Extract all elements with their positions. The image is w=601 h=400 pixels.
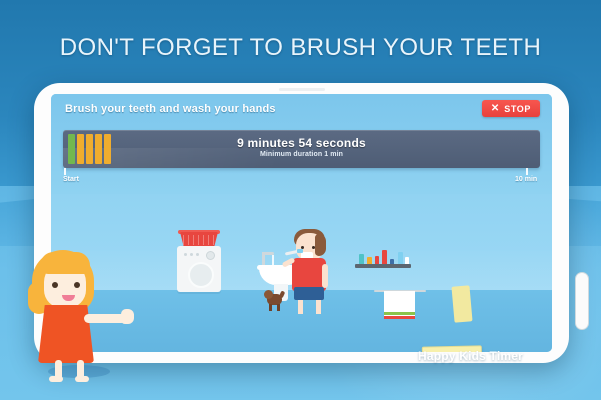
stop-button-label: STOP (504, 104, 531, 114)
boy-arm (322, 264, 328, 288)
basket-texture (183, 235, 215, 245)
girl-mascot (22, 248, 142, 388)
girl-foot (49, 376, 63, 382)
laundry-basket (180, 232, 218, 247)
timer-progress-bar[interactable]: 9 minutes 54 seconds Minimum duration 1 … (63, 130, 540, 168)
toiletry-bottle (382, 250, 387, 265)
page-title: DON'T FORGET TO BRUSH YOUR TEETH (0, 34, 601, 62)
panel-dot (190, 253, 193, 256)
timer-minimum-text: Minimum duration 1 min (63, 151, 540, 158)
dog-leg (277, 304, 280, 311)
washing-machine-knob (206, 251, 215, 260)
girl-bangs (40, 252, 90, 274)
panel-dot (196, 253, 199, 256)
timer-scale-end-label: 10 min (515, 176, 537, 183)
washing-machine-door (188, 262, 214, 288)
boy-leg (298, 300, 303, 314)
towel-stripe-red (384, 316, 415, 319)
girl-foot (75, 376, 89, 382)
girl-eye (52, 282, 58, 288)
boy-shorts (294, 287, 324, 300)
app-watermark: Happy Kids Timer (418, 349, 523, 363)
washing-machine-panel (182, 251, 216, 258)
wall-poster (451, 285, 472, 322)
dog-head (264, 290, 273, 299)
boy-eye (312, 246, 315, 249)
girl-hand (121, 309, 134, 324)
towel-stripe-green (384, 312, 415, 315)
close-icon: ✕ (491, 104, 499, 114)
timer-widget[interactable]: 9 minutes 54 seconds Minimum duration 1 … (63, 130, 540, 168)
app-header: Brush your teeth and wash your hands ✕ S… (51, 94, 552, 128)
task-title: Brush your teeth and wash your hands (65, 103, 276, 115)
screenshot-root: DON'T FORGET TO BRUSH YOUR TEETH Brush y… (0, 0, 601, 400)
dog-leg (269, 304, 272, 311)
phone-speaker (279, 88, 325, 91)
timer-remaining-text: 9 minutes 54 seconds (63, 136, 540, 150)
panel-dot (184, 253, 187, 256)
boy-hair-back (315, 234, 326, 256)
girl-arm-pointing (84, 314, 126, 323)
washing-machine (177, 246, 221, 292)
girl-eye (74, 282, 80, 288)
timer-tick-end (526, 168, 528, 175)
toothbrush-head (297, 249, 303, 253)
timer-scale-start-label: Start (63, 176, 79, 183)
timer-tick-start (64, 168, 66, 175)
stop-button[interactable]: ✕ STOP (482, 100, 540, 117)
bathroom-shelf (355, 264, 411, 268)
power-button[interactable] (575, 272, 589, 330)
boy-leg (316, 300, 321, 314)
